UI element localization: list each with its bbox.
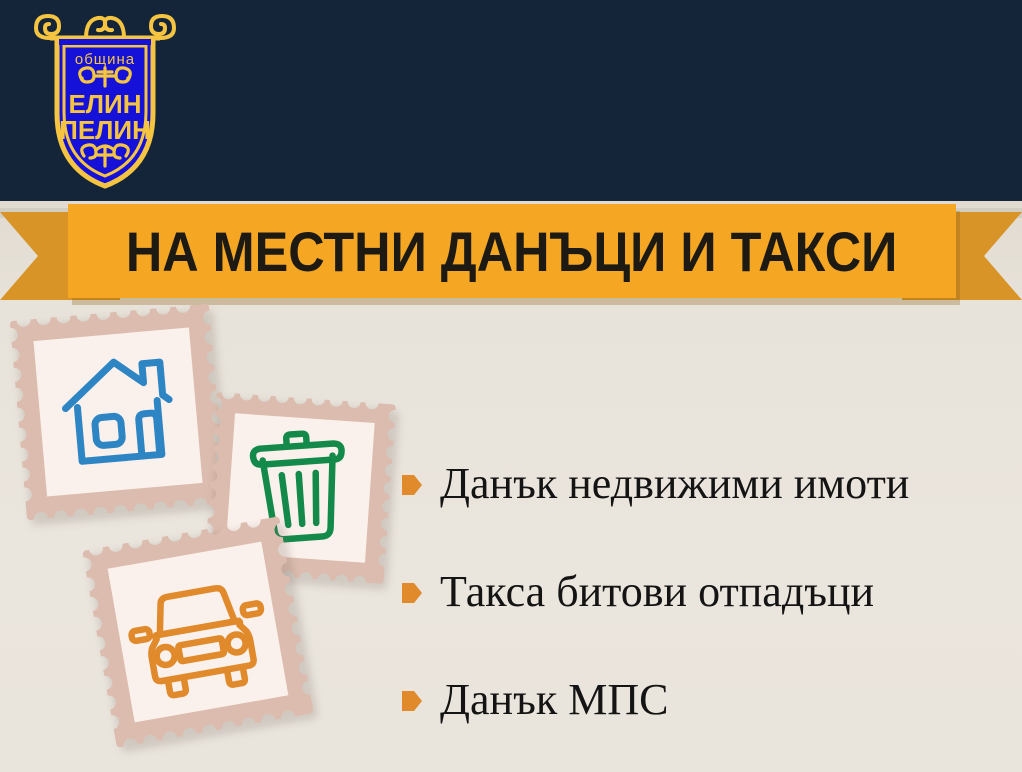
vehicle-stamp-graphic (82, 516, 314, 748)
vehicle-stamp (82, 516, 314, 748)
list-item[interactable]: Данък МПС (402, 646, 1012, 754)
crest-line-2: ПЕЛИН (59, 115, 151, 145)
bullet-arrow-icon (402, 474, 422, 496)
poster-root: ПРОВЕРКА И ПЛАЩАНЕ НА ЗАДЪЛЖЕНИЯ община (0, 0, 1022, 772)
bullet-arrow-icon (402, 690, 422, 712)
crest-icon: община ЕЛИН ПЕЛИН (26, 8, 184, 193)
list-item[interactable]: Такса битови отпадъци (402, 538, 1012, 646)
list-item-label: Данък МПС (440, 678, 668, 722)
ribbon-label: НА МЕСТНИ ДАНЪЦИ И ТАКСИ (126, 219, 897, 284)
ribbon-banner: НА МЕСТНИ ДАНЪЦИ И ТАКСИ (0, 196, 1022, 306)
list-item-label: Данък недвижими имоти (440, 462, 909, 506)
bullet-arrow-icon (402, 582, 422, 604)
ribbon-label-wrapper: НА МЕСТНИ ДАНЪЦИ И ТАКСИ (68, 204, 956, 298)
house-stamp-graphic (10, 304, 227, 521)
coat-of-arms: община ЕЛИН ПЕЛИН (26, 8, 184, 193)
tax-type-list: Данък недвижими имоти Такса битови отпад… (402, 430, 1012, 754)
crest-line-top: община (75, 51, 135, 68)
property-stamp (10, 304, 227, 521)
list-item[interactable]: Данък недвижими имоти (402, 430, 1012, 538)
list-item-label: Такса битови отпадъци (440, 570, 874, 614)
